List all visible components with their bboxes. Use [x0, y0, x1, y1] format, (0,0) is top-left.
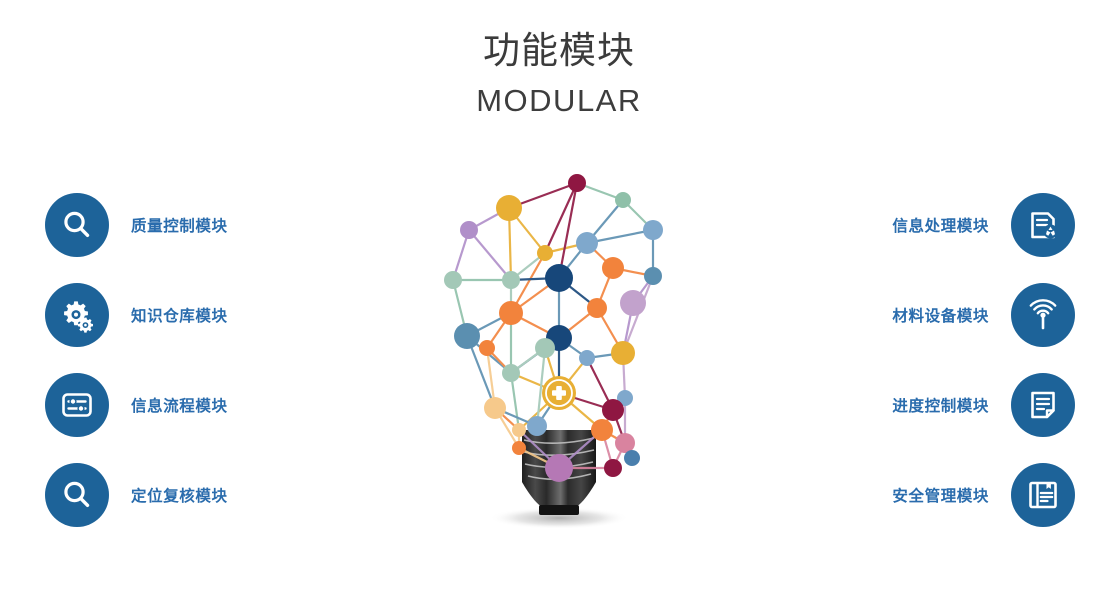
- module-label: 定位复核模块: [131, 484, 228, 506]
- lightbulb-network-illustration: [427, 158, 691, 548]
- module-item-location-review[interactable]: 定位复核模块: [45, 460, 345, 530]
- magnifier-icon: [45, 193, 109, 257]
- module-item-quality-control[interactable]: 质量控制模块: [45, 190, 345, 260]
- module-label: 信息处理模块: [892, 214, 989, 236]
- page-header: 功能模块 MODULAR: [0, 26, 1118, 122]
- module-item-safety-management[interactable]: 安全管理模块: [775, 460, 1075, 530]
- module-item-progress-control[interactable]: 进度控制模块: [775, 370, 1075, 440]
- module-item-material-equipment[interactable]: 材料设备模块: [775, 280, 1075, 350]
- network-node-plus: [542, 376, 576, 410]
- note-document-icon: [1011, 373, 1075, 437]
- page-subtitle: MODULAR: [0, 80, 1118, 122]
- book-ledger-icon: [1011, 463, 1075, 527]
- module-label: 知识仓库模块: [131, 304, 228, 326]
- module-item-information-flow[interactable]: 信息流程模块: [45, 370, 345, 440]
- module-label: 进度控制模块: [892, 394, 989, 416]
- document-recycle-icon: [1011, 193, 1075, 257]
- module-list-left: 质量控制模块 知识仓库模块: [45, 190, 345, 550]
- page-title: 功能模块: [0, 26, 1118, 76]
- sliders-icon: [45, 373, 109, 437]
- module-item-knowledge-repository[interactable]: 知识仓库模块: [45, 280, 345, 350]
- module-label: 信息流程模块: [131, 394, 228, 416]
- module-label: 质量控制模块: [131, 214, 228, 236]
- magnifier-icon: [45, 463, 109, 527]
- network-edges: [453, 183, 653, 468]
- gears-icon: [45, 283, 109, 347]
- module-label: 安全管理模块: [892, 484, 989, 506]
- module-item-information-processing[interactable]: 信息处理模块: [775, 190, 1075, 260]
- antenna-signal-icon: [1011, 283, 1075, 347]
- module-list-right: 信息处理模块 材料设备模块: [775, 190, 1075, 550]
- module-label: 材料设备模块: [892, 304, 989, 326]
